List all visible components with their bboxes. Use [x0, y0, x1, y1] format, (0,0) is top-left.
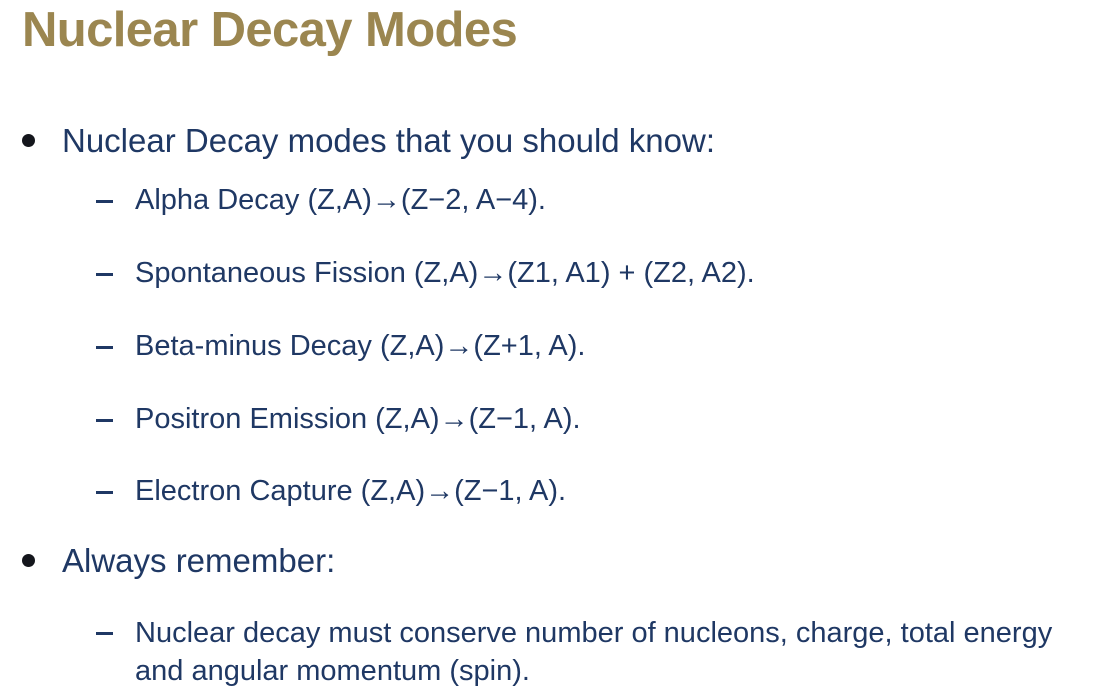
- list-item: Electron Capture (Z,A)→(Z−1, A).: [0, 474, 1118, 509]
- list-item-label: Always remember:: [62, 541, 335, 581]
- spacer: [0, 509, 1118, 541]
- spacer: [0, 581, 1118, 615]
- spacer: [0, 291, 1118, 329]
- bullet-dash-icon: [96, 200, 113, 203]
- list-item: Positron Emission (Z,A)→(Z−1, A).: [0, 402, 1118, 437]
- list-item-label: Positron Emission (Z,A)→(Z−1, A).: [135, 402, 581, 437]
- list-item: Always remember:: [0, 541, 1118, 581]
- bullet-dot-icon: [22, 554, 35, 567]
- list-item: Alpha Decay (Z,A)→(Z−2, A−4).: [0, 183, 1118, 218]
- spacer: [0, 436, 1118, 474]
- list-item-label: Nuclear decay must conserve number of nu…: [135, 615, 1095, 689]
- bullet-dot-icon: [22, 134, 35, 147]
- spacer: [0, 161, 1118, 183]
- list-item-label: Alpha Decay (Z,A)→(Z−2, A−4).: [135, 183, 546, 218]
- list-item-label: Electron Capture (Z,A)→(Z−1, A).: [135, 474, 566, 509]
- list-item: Spontaneous Fission (Z,A)→(Z1, A1) + (Z2…: [0, 256, 1118, 291]
- list-item: Nuclear decay must conserve number of nu…: [0, 615, 1118, 689]
- list-item: Beta-minus Decay (Z,A)→(Z+1, A).: [0, 329, 1118, 364]
- bullet-dash-icon: [96, 632, 113, 635]
- list-item-label: Nuclear Decay modes that you should know…: [62, 121, 715, 161]
- list-item: Nuclear Decay modes that you should know…: [0, 121, 1118, 161]
- list-item-label: Beta-minus Decay (Z,A)→(Z+1, A).: [135, 329, 585, 364]
- bullet-dash-icon: [96, 419, 113, 422]
- spacer: [0, 364, 1118, 402]
- bullet-dash-icon: [96, 273, 113, 276]
- spacer: [0, 218, 1118, 256]
- page-title: Nuclear Decay Modes: [22, 2, 517, 60]
- slide-canvas: Nuclear Decay Modes Nuclear Decay modes …: [0, 0, 1118, 663]
- list-item-label: Spontaneous Fission (Z,A)→(Z1, A1) + (Z2…: [135, 256, 755, 291]
- bullet-dash-icon: [96, 346, 113, 349]
- bullet-dash-icon: [96, 491, 113, 494]
- bullet-list: Nuclear Decay modes that you should know…: [0, 121, 1118, 690]
